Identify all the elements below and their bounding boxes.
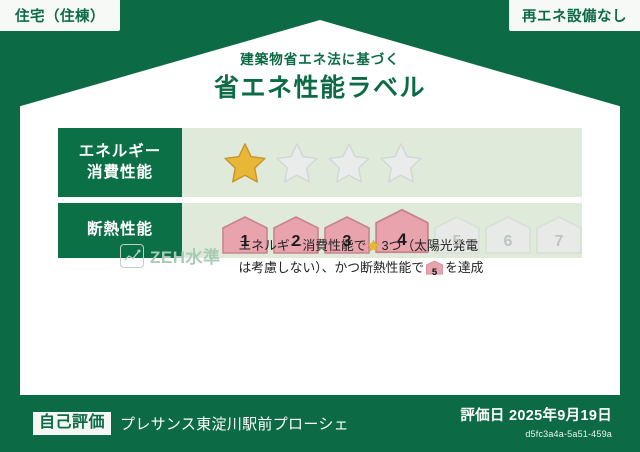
energy-performance-value bbox=[182, 128, 582, 197]
evaluation-date: 評価日 2025年9月19日 bbox=[460, 408, 612, 425]
star-empty-icon bbox=[274, 141, 320, 185]
zeh-label: ZEH水準 bbox=[150, 243, 221, 268]
zeh-text-line1-b: 3つ（太陽光発電 bbox=[381, 238, 478, 253]
insulation-level-value: 3 bbox=[343, 234, 352, 250]
chart-line-icon bbox=[120, 244, 144, 268]
footer-left-group: 自己評価 プレサンス東淀川駅前プローシェ bbox=[33, 412, 349, 435]
star-empty-icon bbox=[326, 141, 372, 185]
insulation-level-value: 6 bbox=[504, 234, 513, 250]
energy-label-line1: エネルギー bbox=[79, 142, 162, 163]
insulation-level-inline-badge: 5 bbox=[426, 260, 443, 275]
building-type-tag: 住宅（住棟） bbox=[0, 0, 120, 31]
insulation-level-value: 4 bbox=[397, 231, 406, 248]
star-rating bbox=[222, 141, 424, 185]
title-main: 省エネ性能ラベル bbox=[20, 76, 620, 101]
star-empty-icon bbox=[378, 141, 424, 185]
label-panel: 建築物省エネ法に基づく 省エネ性能ラベル エネルギー 消費性能 bbox=[20, 20, 620, 395]
footer-right-group: 評価日 2025年9月19日 d5fc3a4a-5a51-459a bbox=[460, 408, 612, 438]
building-name: プレサンス東淀川駅前プローシェ bbox=[120, 413, 349, 434]
insulation-level-value: 1 bbox=[241, 234, 250, 250]
insulation-level-value: 7 bbox=[555, 234, 564, 250]
zeh-text-line2-b: を達成 bbox=[445, 260, 483, 275]
insulation-level-value: 2 bbox=[292, 234, 301, 250]
renewable-energy-tag: 再エネ設備なし bbox=[509, 0, 640, 31]
evaluation-id: d5fc3a4a-5a51-459a bbox=[460, 429, 612, 439]
inline-level-value: 5 bbox=[432, 267, 437, 278]
zeh-text-line2-a: は考慮しない）、かつ断熱性能で bbox=[239, 260, 425, 275]
star-filled-icon bbox=[222, 141, 268, 185]
title-subtitle: 建築物省エネ法に基づく bbox=[20, 53, 620, 67]
energy-performance-row: エネルギー 消費性能 bbox=[58, 128, 582, 197]
self-evaluation-badge: 自己評価 bbox=[33, 412, 111, 435]
zeh-section: ZEH水準 エネルギー消費性能で3つ（太陽光発電 は考慮しない）、かつ断熱性能で… bbox=[60, 235, 580, 280]
energy-performance-label-box: エネルギー 消費性能 bbox=[58, 128, 182, 197]
energy-label-line2: 消費性能 bbox=[87, 163, 153, 184]
insulation-level-value: 5 bbox=[453, 234, 462, 250]
page-title: 建築物省エネ法に基づく 省エネ性能ラベル bbox=[20, 53, 620, 101]
zeh-badge: ZEH水準 bbox=[120, 243, 221, 268]
star-icon bbox=[367, 239, 380, 252]
energy-performance-label: 住宅（住棟） 再エネ設備なし 建築物省エネ法に基づく 省エネ性能ラベル エネルギ… bbox=[0, 0, 640, 452]
zeh-description: エネルギー消費性能で3つ（太陽光発電 は考慮しない）、かつ断熱性能で5を達成 bbox=[239, 235, 484, 280]
label-footer: 自己評価 プレサンス東淀川駅前プローシェ 評価日 2025年9月19日 d5fc… bbox=[0, 395, 640, 452]
